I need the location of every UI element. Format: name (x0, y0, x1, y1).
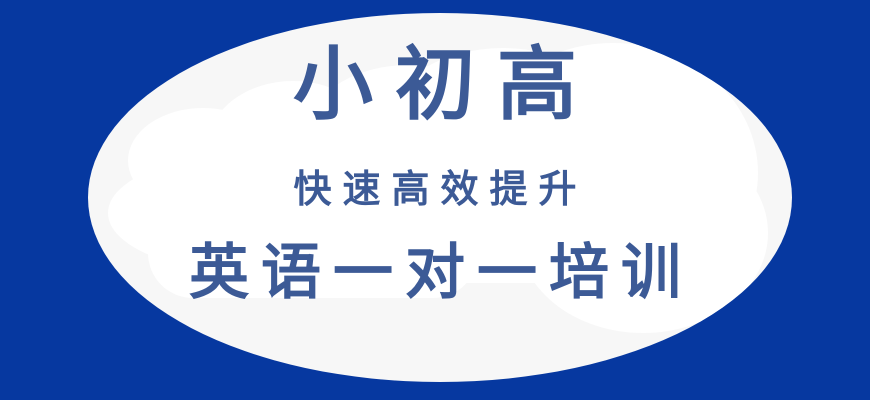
banner-subheadline: 快速高效提升 (0, 171, 870, 209)
banner-text-stack: 小初高 快速高效提升 英语一对一培训 (0, 0, 870, 400)
banner-service-line: 英语一对一培训 (0, 243, 870, 303)
promo-banner: 小初高 快速高效提升 英语一对一培训 (0, 0, 870, 400)
banner-headline: 小初高 (0, 46, 870, 126)
